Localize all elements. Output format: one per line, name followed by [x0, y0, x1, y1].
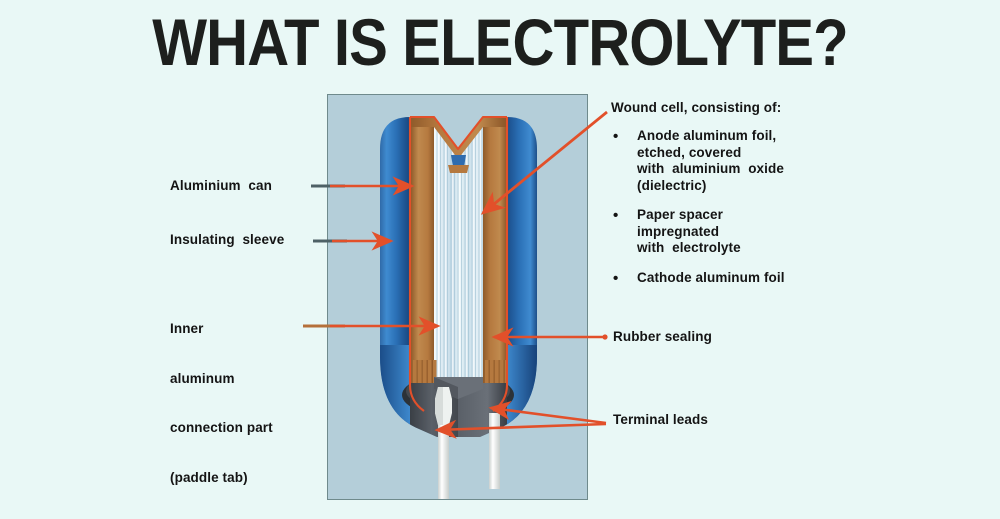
bullet-paper-spacer-line2: impregnated: [637, 224, 871, 241]
label-inner-connection-line2: aluminum: [170, 371, 273, 388]
bullet-cathode-foil: • Cathode aluminum foil: [611, 270, 871, 287]
wound-cell-bullet-list: • Anode aluminum foil, etched, covered w…: [611, 128, 871, 299]
paddle-tab-shape: [435, 387, 452, 425]
bullet-paper-spacer: • Paper spacer impregnated with electrol…: [611, 207, 871, 257]
capacitor-diagram-panel: [327, 94, 588, 500]
label-inner-connection-line1: Inner: [170, 321, 273, 338]
label-aluminium-can: Aluminium can: [170, 178, 272, 195]
bullet-marker-icon: •: [613, 128, 618, 145]
bullet-paper-spacer-line3: with electrolyte: [637, 240, 871, 257]
label-insulating-sleeve: Insulating sleeve: [170, 232, 284, 249]
bullet-anode-foil-line4: (dielectric): [637, 178, 871, 195]
label-terminal-leads: Terminal leads: [613, 412, 708, 429]
label-inner-connection: Inner aluminum connection part (paddle t…: [170, 288, 273, 519]
bullet-cathode-foil-line1: Cathode aluminum foil: [637, 270, 871, 287]
bullet-anode-foil: • Anode aluminum foil, etched, covered w…: [611, 128, 871, 194]
label-inner-connection-line3: connection part: [170, 420, 273, 437]
capacitor-cutaway-illustration: [328, 95, 588, 500]
bullet-marker-icon: •: [613, 270, 618, 287]
leader-dot-rubber-sealing: [602, 334, 607, 339]
label-wound-cell-heading: Wound cell, consisting of:: [611, 100, 781, 117]
label-inner-connection-line4: (paddle tab): [170, 470, 273, 487]
bullet-anode-foil-line2: etched, covered: [637, 145, 871, 162]
bullet-anode-foil-line3: with aluminium oxide: [637, 161, 871, 178]
bullet-marker-icon: •: [613, 207, 618, 224]
page-title: WHAT IS ELECTROLYTE?: [60, 4, 940, 80]
bullet-anode-foil-line1: Anode aluminum foil,: [637, 128, 871, 145]
label-rubber-sealing: Rubber sealing: [613, 329, 712, 346]
bullet-paper-spacer-line1: Paper spacer: [637, 207, 871, 224]
